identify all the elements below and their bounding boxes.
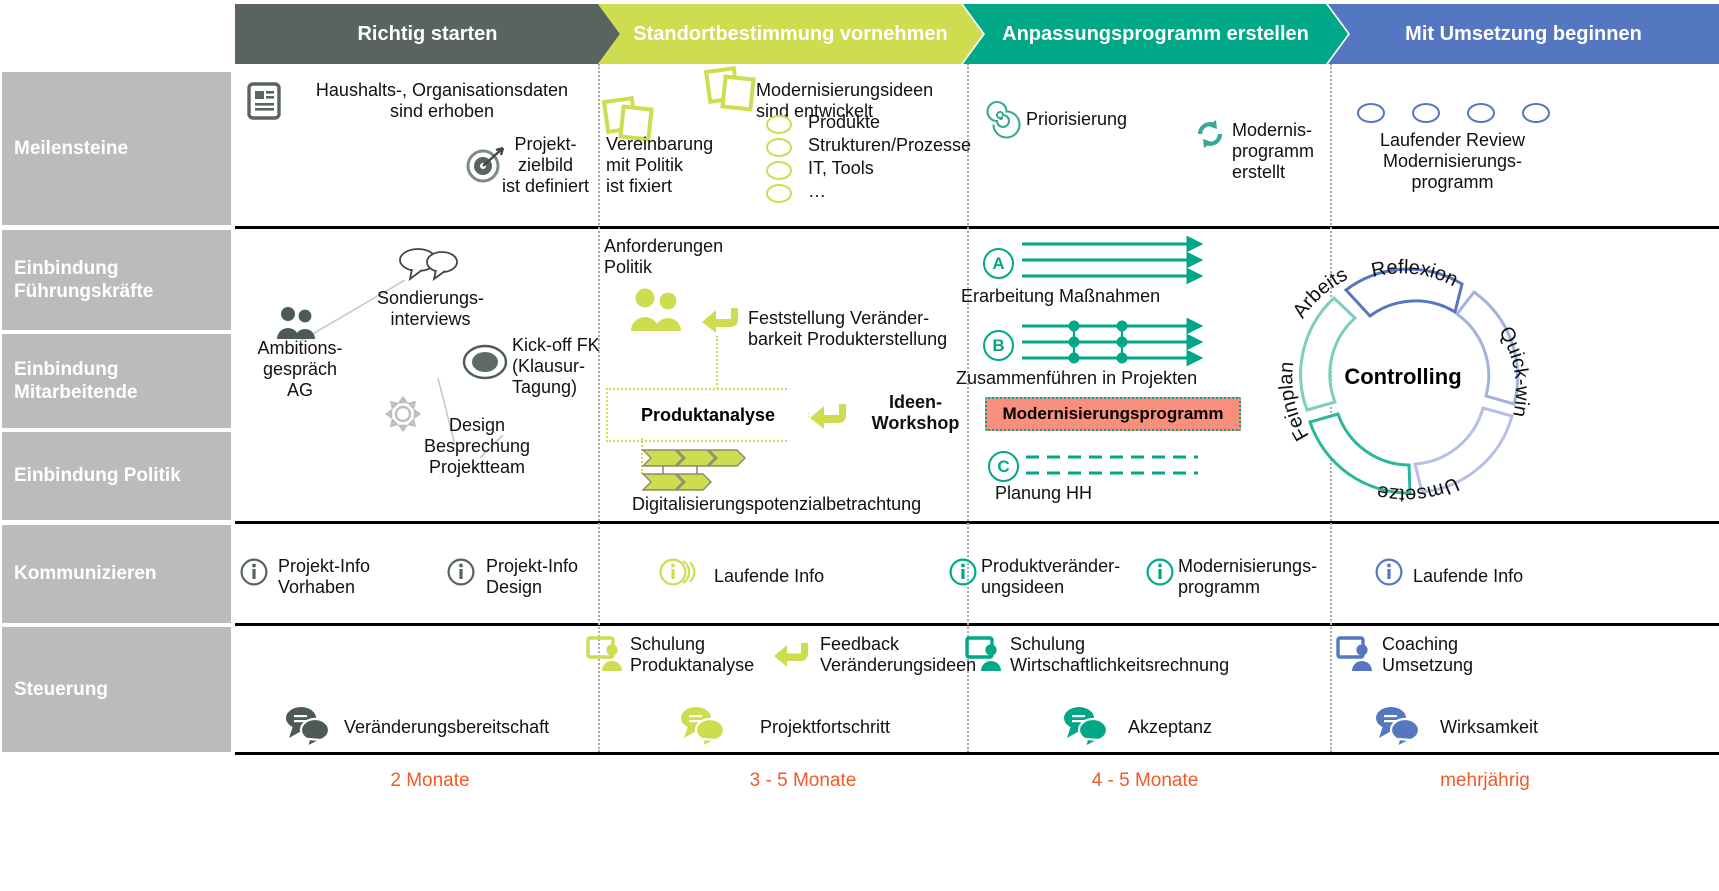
two-people-icon [276,306,318,340]
steuerung-bottom-label-1: Veränderungsbereitschaft [344,717,549,738]
steuerung-top-label-3: Schulung Wirtschaftlichkeitsrechnung [1010,634,1260,676]
kommunizieren-label-3: Laufende Info [714,566,824,587]
phase-header-richtig-starten[interactable]: Richtig starten [235,4,620,64]
info-icon-4 [949,558,977,586]
track-badge-a: A [983,248,1014,279]
steuerung-bottom-label-4: Wirksamkeit [1440,717,1538,738]
phase-header-mit-umsetzung[interactable]: Mit Umsetzung beginnen [1328,4,1719,64]
kommunizieren-label-5: Modernisierungs- programm [1178,556,1358,598]
einbindung-planung-hh-label: Planung HH [995,483,1092,504]
bullet-ellipse-3 [766,161,792,180]
review-ellipse-2 [1412,103,1440,123]
duration-phase-3: 4 - 5 Monate [1015,770,1275,792]
row-label-text: Kommunizieren [14,562,157,585]
training-monitor-icon-3 [1337,636,1373,672]
einbindung-ideen-workshop-label: Ideen- Workshop [858,392,973,434]
produktanalyse-shape[interactable]: Produktanalyse [606,388,810,442]
row-divider-1 [235,226,1719,229]
einbindung-erarbeitung-label: Erarbeitung Maßnahmen [961,286,1160,307]
kommunizieren-label-2: Projekt-Info Design [486,556,646,598]
row-label-einbindung-fuehrungskraefte[interactable]: Einbindung Führungskräfte [2,230,231,330]
einbindung-zusammenfuehren-label: Zusammenführen in Projekten [956,368,1197,389]
kommunizieren-label-6: Laufende Info [1413,566,1523,587]
feedback-arrow-icon-3 [772,638,812,670]
einbindung-feststellung-label: Feststellung Veränder- barkeit Produkter… [748,308,1008,350]
refresh-cycle-icon [1194,118,1226,150]
einbindung-design-besprechung-label: Design Besprechung Projektteam [392,415,562,479]
review-ellipse-4 [1522,103,1550,123]
speech-bubble-outline-icon [398,246,460,282]
sticky-notes-icon-2 [706,66,760,114]
row-divider-2 [235,521,1719,524]
row-label-text: Einbindung Mitarbeitende [14,358,231,404]
speech-bubbles-icon-1 [285,705,333,747]
row-label-kommunizieren[interactable]: Kommunizieren [2,525,231,623]
phase-label: Mit Umsetzung beginnen [1379,23,1668,45]
milestone-bullet-ellipsis: … [808,181,826,202]
track-a-arrows [1022,238,1202,286]
spiral-icon [985,102,1017,134]
speech-bubbles-icon-3 [1063,705,1111,747]
row-divider-4 [235,752,1719,755]
row-label-meilensteine[interactable]: Meilensteine [2,72,231,225]
duration-phase-2: 3 - 5 Monate [668,770,938,792]
einbindung-sondierungsinterviews-label: Sondierungs- interviews [348,288,513,330]
review-ellipse-3 [1467,103,1495,123]
row-label-einbindung-mitarbeitende[interactable]: Einbindung Mitarbeitende [2,334,231,428]
phase-label: Richtig starten [331,23,523,45]
track-c-dashed-lines [1026,452,1206,482]
controlling-wheel: Reflexion Quick-win Umsetzen Feinplan Ar… [1262,236,1544,518]
steuerung-bottom-label-2: Projektfortschritt [760,717,890,738]
phase-header-anpassungsprogramm[interactable]: Anpassungsprogramm erstellen [963,4,1348,64]
milestone-bullet-strukturen: Strukturen/Prozesse [808,135,971,156]
row-label-text: Steuerung [14,678,108,701]
info-icon-5 [1146,558,1174,586]
milestone-modprogramm-erstellt-label: Modernis- programm erstellt [1232,120,1342,184]
track-badge-c-label: C [997,457,1009,477]
milestone-priorisierung-label: Priorisierung [1026,109,1127,130]
row-label-text: Meilensteine [14,137,128,160]
process-chevrons-icon [641,448,751,494]
track-badge-c: C [988,451,1019,482]
training-monitor-icon-2 [966,636,1002,672]
row-label-text: Einbindung Führungskräfte [14,257,231,303]
row-label-einbindung-politik[interactable]: Einbindung Politik [2,432,231,520]
duration-phase-1: 2 Monate [300,770,560,792]
steuerung-top-label-4: Coaching Umsetzung [1382,634,1552,676]
einbindung-ambitionsgespraech-label: Ambitions- gespräch AG [240,338,360,402]
bullet-ellipse-4 [766,184,792,203]
feedback-arrow-icon-2 [808,398,850,432]
track-b-arrows [1022,320,1202,368]
speech-bubbles-icon-4 [1375,705,1423,747]
kickoff-circle-icon [462,343,508,381]
info-icon-2 [447,558,475,586]
speech-bubbles-icon-2 [680,705,728,747]
phase-label: Anpassungsprogramm erstellen [976,23,1335,45]
track-badge-b: B [983,330,1014,361]
info-icon-1 [240,558,268,586]
svg-text:Controlling: Controlling [1344,364,1461,389]
review-ellipse-1 [1357,103,1385,123]
milestone-vereinbarung-label: Vereinbarung mit Politik ist fixiert [606,134,766,198]
milestone-bullet-produkte: Produkte [808,112,880,133]
document-icon [247,82,281,120]
phase-header-standortbestimmung[interactable]: Standortbestimmung vornehmen [598,4,983,64]
roadmap-canvas: Richtig starten Standortbestimmung vorne… [0,0,1719,891]
modernisierungsprogramm-badge[interactable]: Modernisierungsprogramm [985,397,1241,431]
phase-label: Standortbestimmung vornehmen [607,23,973,45]
duration-phase-4: mehrjährig [1360,770,1610,792]
kommunizieren-label-1: Projekt-Info Vorhaben [278,556,438,598]
row-divider-3 [235,623,1719,626]
track-badge-b-label: B [992,336,1004,356]
milestone-haushalts-label: Haushalts-, Organisationsdaten sind erho… [292,80,592,122]
milestone-projektzielbild-label: Projekt- zielbild ist definiert [493,134,598,198]
row-label-steuerung[interactable]: Steuerung [2,627,231,752]
row-label-text: Einbindung Politik [14,464,181,487]
info-icon-6 [1375,558,1403,586]
feedback-arrow-icon [700,302,742,336]
produktanalyse-label: Produktanalyse [641,405,775,426]
two-people-lime-icon [630,288,684,332]
modernisierungsprogramm-label: Modernisierungsprogramm [1002,404,1223,424]
info-stack-icon [659,558,703,586]
einbindung-digitalisierung-label: Digitalisierungspotenzialbetrachtung [632,494,921,515]
milestone-bullet-it-tools: IT, Tools [808,158,874,179]
kommunizieren-label-4: Produktveränder- ungsideen [981,556,1161,598]
steuerung-bottom-label-3: Akzeptanz [1128,717,1212,738]
milestone-laufender-review-label: Laufender Review Modernisierungs- progra… [1330,130,1575,194]
einbindung-anforderungen-politik-label: Anforderungen Politik [604,236,784,278]
bullet-ellipse-2 [766,138,792,157]
bullet-ellipse-1 [766,115,792,134]
training-monitor-icon-1 [587,636,623,672]
track-badge-a-label: A [992,254,1004,274]
